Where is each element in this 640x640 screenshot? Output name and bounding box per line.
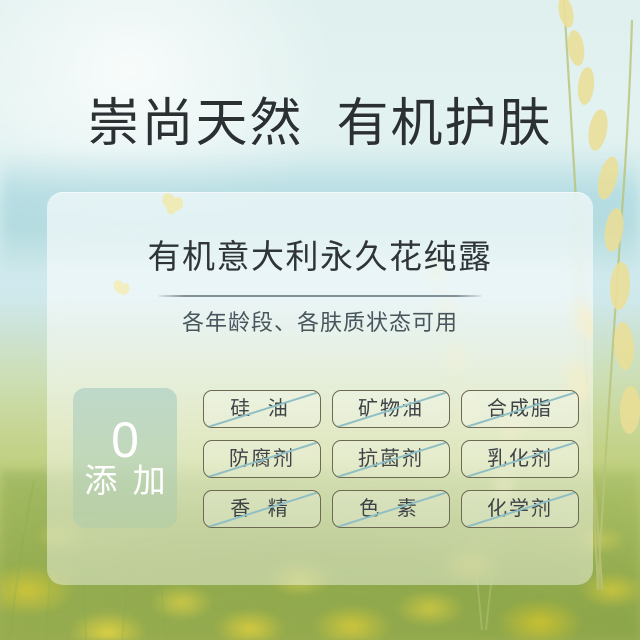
- free-from-tag: 防腐剂: [203, 440, 321, 478]
- strikethrough-line-icon: [332, 440, 450, 478]
- free-from-tag: 乳化剂: [461, 440, 579, 478]
- strikethrough-line-icon: [203, 390, 321, 428]
- strikethrough-line-icon: [332, 490, 450, 528]
- product-info-card: 有机意大利永久花纯露 各年龄段、各肤质状态可用 0 添 加 硅 油 矿物油 合成…: [47, 192, 593, 585]
- strikethrough-line-icon: [461, 390, 579, 428]
- free-from-tag: 色 素: [332, 490, 450, 528]
- page-title: 崇尚天然 有机护肤: [0, 98, 640, 150]
- product-name: 有机意大利永久花纯露: [47, 240, 593, 273]
- strikethrough-line-icon: [461, 440, 579, 478]
- product-tagline: 各年龄段、各肤质状态可用: [47, 312, 593, 334]
- strikethrough-line-icon: [461, 490, 579, 528]
- strikethrough-line-icon: [203, 490, 321, 528]
- zero-added-label: 添 加: [84, 464, 168, 499]
- zero-added-badge: 0 添 加: [73, 388, 177, 528]
- divider: [159, 295, 481, 297]
- poster-canvas: 崇尚天然 有机护肤 有机意大利永久花纯露 各年龄段、各肤质状态可用 0 添 加 …: [0, 0, 640, 640]
- free-from-tag: 矿物油: [332, 390, 450, 428]
- free-from-tag: 抗菌剂: [332, 440, 450, 478]
- strikethrough-line-icon: [332, 390, 450, 428]
- zero-added-number: 0: [111, 417, 139, 465]
- free-from-tag: 化学剂: [461, 490, 579, 528]
- strikethrough-line-icon: [203, 440, 321, 478]
- free-from-tag: 香 精: [203, 490, 321, 528]
- free-from-tag: 合成脂: [461, 390, 579, 428]
- free-from-tag: 硅 油: [203, 390, 321, 428]
- free-from-tag-grid: 硅 油 矿物油 合成脂 防腐剂 抗菌剂 乳化剂: [203, 390, 579, 528]
